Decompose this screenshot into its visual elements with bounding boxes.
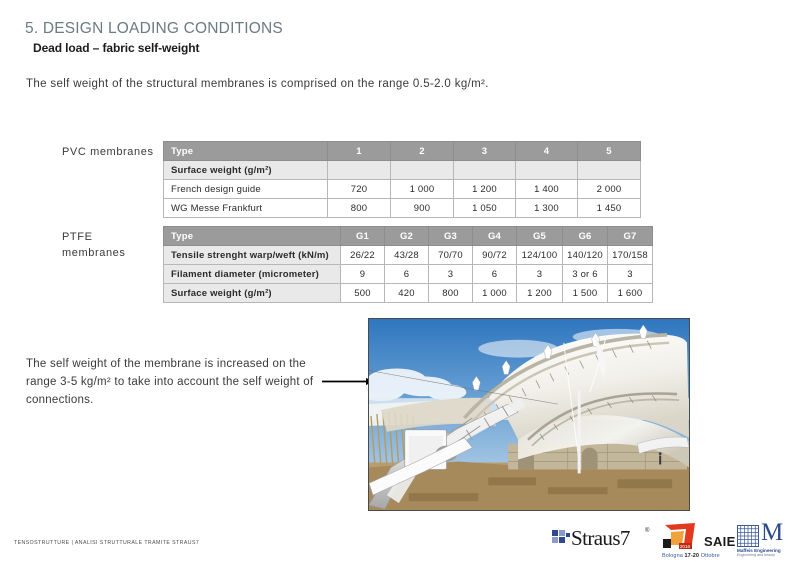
table-cell [454, 161, 516, 180]
table-cell [328, 161, 391, 180]
table-cell: 1 500 [563, 284, 608, 303]
table-cell: 1 400 [516, 180, 578, 199]
table-cell [578, 161, 641, 180]
arrow-right-icon [322, 377, 374, 386]
registered-mark: ® [645, 528, 649, 534]
straus7-logo: Straus7 ® [552, 528, 652, 552]
table-row: Tensile strenght warp/weft (kN/m) 26/22 … [164, 246, 653, 265]
table-cell [516, 161, 578, 180]
table-cell: 1 300 [516, 199, 578, 218]
column-header: G5 [517, 227, 563, 246]
table-cell: 3 or 6 [563, 265, 608, 284]
pvc-membranes-label: PVC membranes [62, 144, 154, 160]
table-cell: 6 [385, 265, 429, 284]
table-cell: 9 [341, 265, 385, 284]
membrane-structure-photo [368, 318, 690, 511]
closing-paragraph: The self weight of the membrane is incre… [26, 355, 326, 409]
table-cell: 800 [328, 199, 391, 218]
table-cell: 420 [385, 284, 429, 303]
table-cell: 900 [391, 199, 454, 218]
column-header: Type [164, 227, 341, 246]
table-cell: 124/100 [517, 246, 563, 265]
table-cell: 3 [517, 265, 563, 284]
footer-text: TENSOSTRUTTURE | ANALISI STRUTTURALE TRA… [14, 540, 199, 546]
row-label-cell: French design guide [164, 180, 328, 199]
table-cell: 1 000 [391, 180, 454, 199]
saie-sub-pre: Bologna [662, 553, 685, 559]
saie-mark-icon: 2016 [662, 523, 702, 552]
table-cell [391, 161, 454, 180]
column-header: G7 [608, 227, 653, 246]
row-label-cell: Tensile strenght warp/weft (kN/m) [164, 246, 341, 265]
table-cell: 1 200 [517, 284, 563, 303]
table-cell: 70/70 [429, 246, 473, 265]
page-subtitle: Dead load – fabric self-weight [33, 41, 199, 55]
column-header: 1 [328, 142, 391, 161]
column-header: 2 [391, 142, 454, 161]
table-cell: 720 [328, 180, 391, 199]
table-row: Filament diameter (micrometer) 9 6 3 6 3… [164, 265, 653, 284]
row-label-cell: WG Messe Frankfurt [164, 199, 328, 218]
pvc-membranes-table: Type 1 2 3 4 5 Surface weight (g/m²) Fre… [163, 141, 641, 218]
straus7-wordmark: Straus7 [571, 526, 630, 551]
maffeis-logo: M Maffeis Engineering Engineering and be… [736, 524, 792, 562]
table-cell: 6 [473, 265, 517, 284]
row-label-cell: Surface weight (g/m²) [164, 284, 341, 303]
table-cell: 3 [429, 265, 473, 284]
table-cell: 26/22 [341, 246, 385, 265]
table-cell: 500 [341, 284, 385, 303]
column-header: G3 [429, 227, 473, 246]
maffeis-letter-m: M [761, 519, 780, 546]
column-header: G1 [341, 227, 385, 246]
saie-sub-post: Ottobre [699, 553, 720, 559]
table-header-row: Type 1 2 3 4 5 [164, 142, 641, 161]
table-cell: 1 000 [473, 284, 517, 303]
ptfe-membranes-label: PTFE membranes [62, 229, 142, 261]
row-label-cell: Surface weight (g/m²) [164, 161, 328, 180]
column-header: G2 [385, 227, 429, 246]
table-cell: 1 450 [578, 199, 641, 218]
table-row: Surface weight (g/m²) 500 420 800 1 000 … [164, 284, 653, 303]
maffeis-grid-icon [737, 525, 759, 547]
table-header-row: Type G1 G2 G3 G4 G5 G6 G7 [164, 227, 653, 246]
table-row: Surface weight (g/m²) [164, 161, 641, 180]
row-label-cell: Filament diameter (micrometer) [164, 265, 341, 284]
table-cell: 43/28 [385, 246, 429, 265]
column-header: G4 [473, 227, 517, 246]
page-title: 5. DESIGN LOADING CONDITIONS [25, 20, 283, 38]
table-cell: 1 050 [454, 199, 516, 218]
straus7-squares-icon [552, 530, 569, 547]
saie-subtitle: Bologna 17-20 Ottobre [662, 553, 720, 559]
logo-bar: Straus7 ® 2016 SAIE Bologna 17-20 Ottobr… [552, 522, 792, 564]
column-header: 4 [516, 142, 578, 161]
table-cell: 90/72 [473, 246, 517, 265]
table-row: WG Messe Frankfurt 800 900 1 050 1 300 1… [164, 199, 641, 218]
table-cell: 2 000 [578, 180, 641, 199]
table-cell: 1 200 [454, 180, 516, 199]
intro-paragraph: The self weight of the structural membra… [26, 78, 489, 90]
column-header: Type [164, 142, 328, 161]
maffeis-tagline: Engineering and beauty [737, 553, 775, 557]
column-header: G6 [563, 227, 608, 246]
table-cell: 140/120 [563, 246, 608, 265]
saie-wordmark: SAIE [704, 534, 736, 549]
column-header: 5 [578, 142, 641, 161]
maffeis-monogram: M [761, 521, 780, 545]
table-cell: 170/158 [608, 246, 653, 265]
ptfe-membranes-table: Type G1 G2 G3 G4 G5 G6 G7 Tensile streng… [163, 226, 653, 303]
svg-text:2016: 2016 [680, 544, 691, 549]
table-cell: 1 600 [608, 284, 653, 303]
table-cell: 3 [608, 265, 653, 284]
table-cell: 800 [429, 284, 473, 303]
table-row: French design guide 720 1 000 1 200 1 40… [164, 180, 641, 199]
column-header: 3 [454, 142, 516, 161]
saie-sub-dates: 17-20 [685, 553, 700, 559]
